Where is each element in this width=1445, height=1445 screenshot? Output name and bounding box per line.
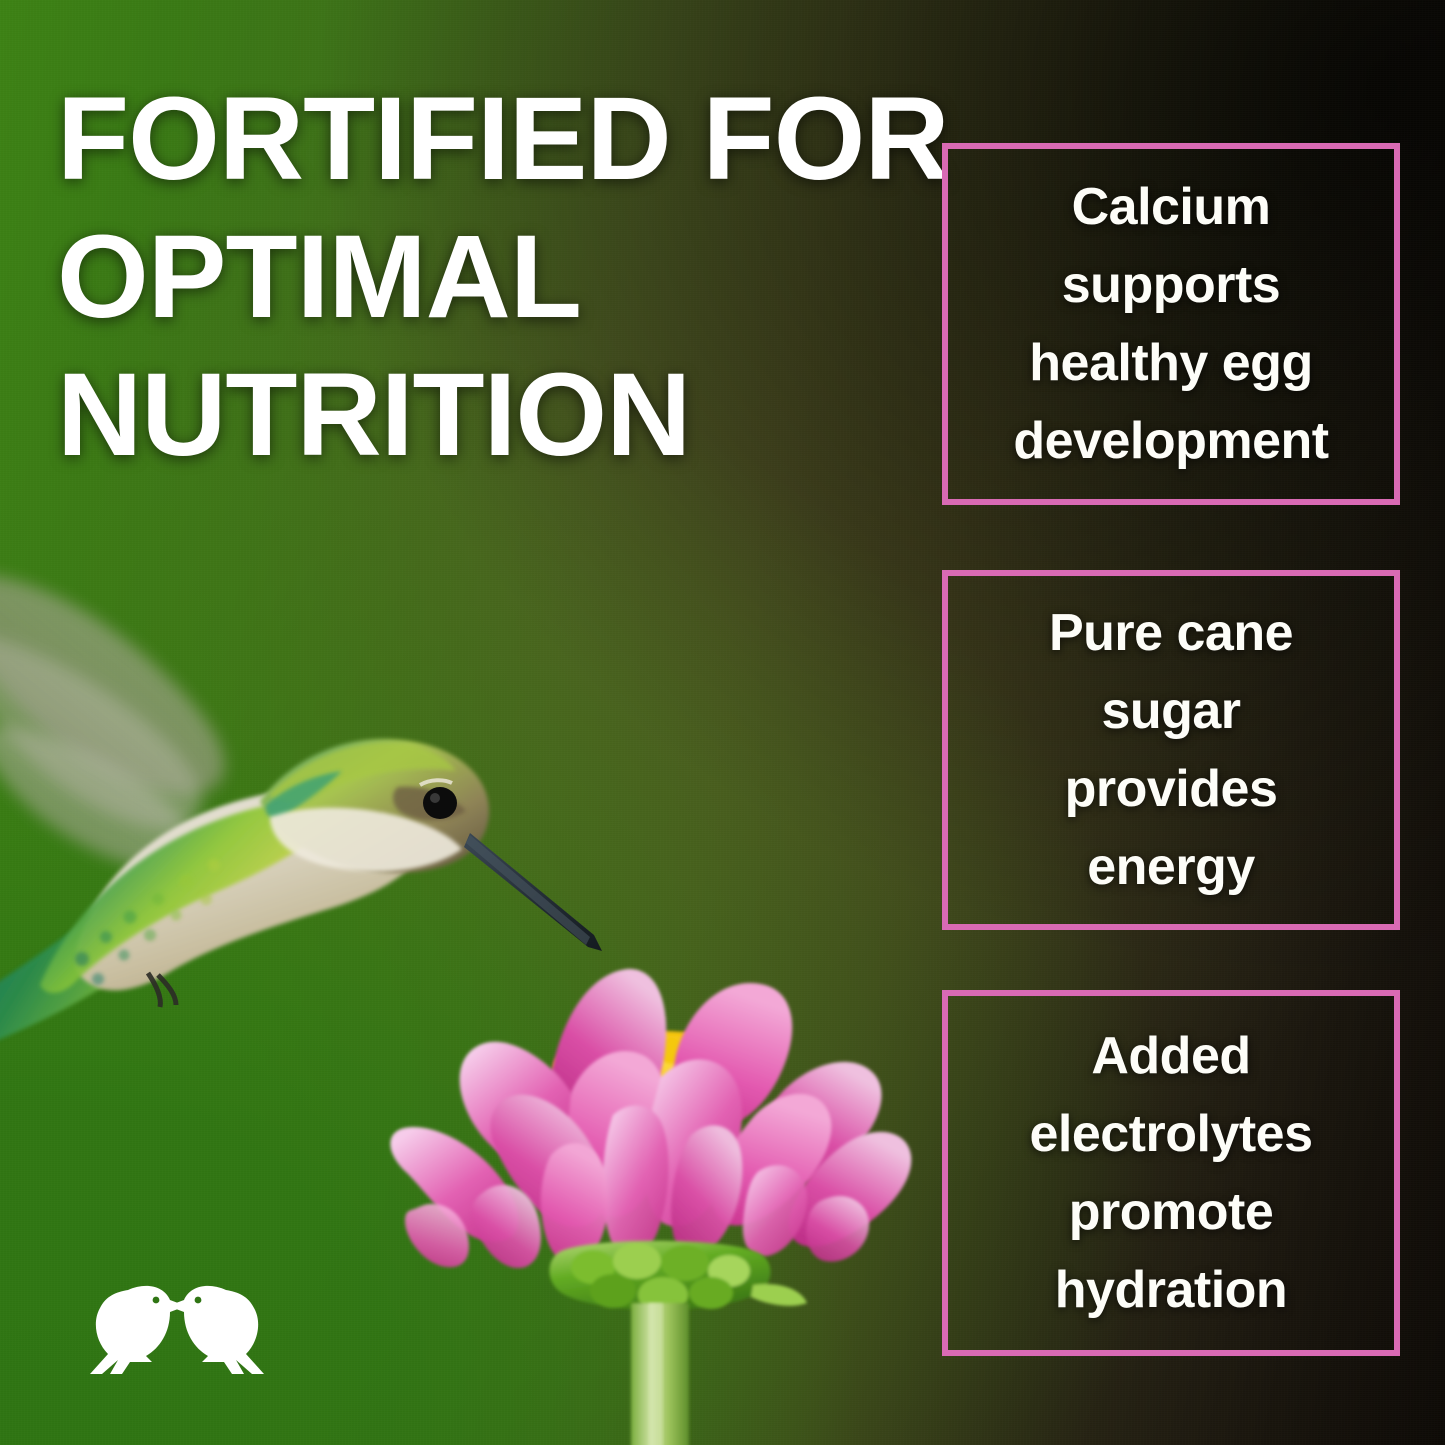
benefit-text: Calcium supports healthy egg development: [1013, 168, 1328, 480]
flower-image: [355, 955, 965, 1445]
benefit-line: Added: [1029, 1017, 1312, 1095]
benefit-line: hydration: [1029, 1251, 1312, 1329]
benefit-text: Pure cane sugar provides energy: [1049, 594, 1293, 906]
page-title: Fortified for Optimal Nutrition: [57, 70, 937, 484]
headline-line-3: Nutrition: [57, 346, 937, 484]
benefit-line: supports: [1013, 246, 1328, 324]
benefit-callout-cane-sugar: Pure cane sugar provides energy: [942, 570, 1400, 930]
two-birds-logo: [82, 1278, 272, 1398]
benefit-callout-electrolytes: Added electrolytes promote hydration: [942, 990, 1400, 1356]
benefit-line: Calcium: [1013, 168, 1328, 246]
benefit-line: development: [1013, 402, 1328, 480]
benefit-callout-calcium: Calcium supports healthy egg development: [942, 143, 1400, 505]
benefit-line: energy: [1049, 828, 1293, 906]
benefit-line: provides: [1049, 750, 1293, 828]
headline-line-1: Fortified for: [57, 70, 937, 208]
bird-right-icon: [168, 1286, 264, 1374]
benefit-line: promote: [1029, 1173, 1312, 1251]
benefit-line: electrolytes: [1029, 1095, 1312, 1173]
benefit-line: healthy egg: [1013, 324, 1328, 402]
benefit-line: sugar: [1049, 672, 1293, 750]
bird-left-icon: [90, 1286, 186, 1374]
poster-canvas: Fortified for Optimal Nutrition Calcium …: [0, 0, 1445, 1445]
benefit-text: Added electrolytes promote hydration: [1029, 1017, 1312, 1329]
benefit-line: Pure cane: [1049, 594, 1293, 672]
headline-line-2: Optimal: [57, 208, 937, 346]
